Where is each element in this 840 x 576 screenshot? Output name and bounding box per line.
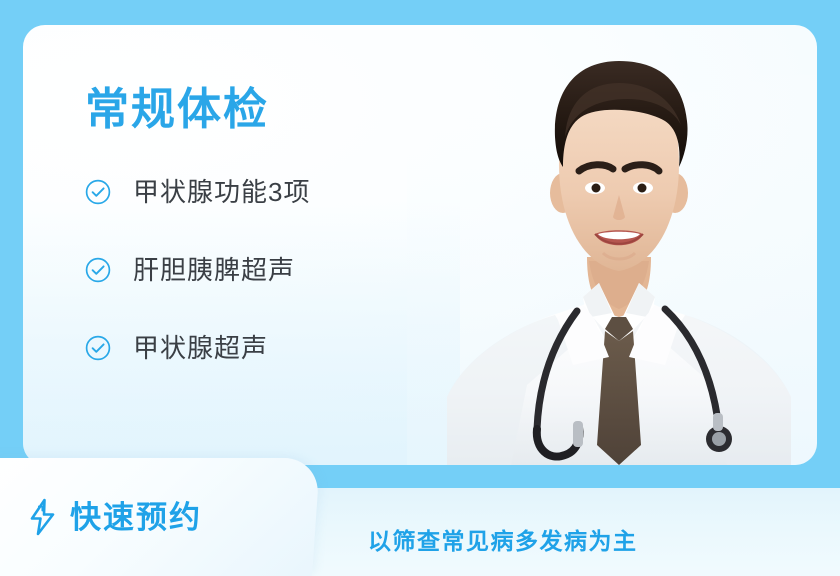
list-item-label: 肝胆胰脾超声 xyxy=(133,257,295,283)
text-column: 常规体检 甲状腺功能3项 xyxy=(85,85,445,370)
content-card: 常规体检 甲状腺功能3项 xyxy=(23,25,817,465)
check-circle-icon xyxy=(85,257,111,283)
check-circle-icon xyxy=(85,335,111,361)
feature-list: 甲状腺功能3项 肝胆胰脾超声 xyxy=(85,170,445,370)
doctor-portrait xyxy=(407,25,817,465)
quick-book-button[interactable]: 快速预约 xyxy=(0,458,330,576)
promo-banner: 常规体检 甲状腺功能3项 xyxy=(0,0,840,576)
list-item: 甲状腺功能3项 xyxy=(85,170,445,214)
check-circle-icon xyxy=(85,179,111,205)
lightning-bolt-icon xyxy=(28,498,58,536)
list-item-label: 甲状腺超声 xyxy=(133,335,268,361)
list-item-label: 甲状腺功能3项 xyxy=(133,179,310,205)
quick-book-label: 快速预约 xyxy=(70,502,202,533)
tagline: 以筛查常见病多发病为主 xyxy=(368,522,638,556)
page-title: 常规体检 xyxy=(85,85,445,136)
list-item: 肝胆胰脾超声 xyxy=(85,248,445,292)
list-item: 甲状腺超声 xyxy=(85,326,445,370)
